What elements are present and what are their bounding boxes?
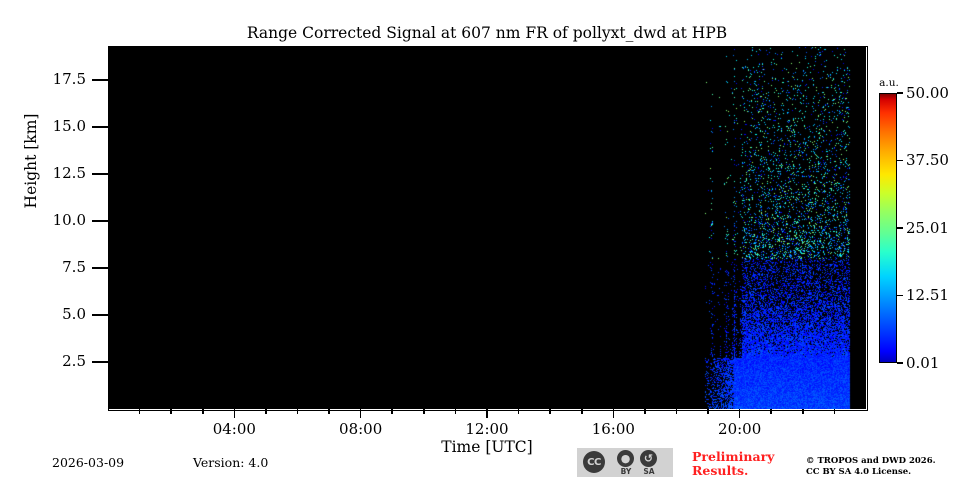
cc-by-label: BY [614,467,638,476]
cc-by-person-icon: ● [617,450,634,467]
x-tick-mark-minor [644,409,646,414]
x-tick-label: 20:00 [700,421,780,437]
heatmap-data-canvas [108,46,866,409]
x-tick-mark-minor [391,409,393,414]
copyright-line-1: © TROPOS and DWD 2026. [806,456,960,467]
colorbar-unit-label: a.u. [868,78,910,89]
quicklook-figure: Range Corrected Signal at 607 nm FR of p… [0,0,960,480]
x-tick-mark-minor [423,409,425,414]
y-tick-label: 7.5 [32,260,86,275]
x-tick-mark-minor [265,409,267,414]
colorbar-tick-mark [897,160,903,161]
y-tick-mark [92,314,108,316]
colorbar-tick-label: 0.01 [906,356,939,371]
y-tick-label: 12.5 [32,166,86,181]
x-tick-mark-minor [834,409,836,414]
y-tick-label: 10.0 [32,213,86,228]
colorbar-tick-label: 50.00 [906,86,949,101]
x-tick-mark-major [360,409,362,418]
x-tick-mark-minor [170,409,172,414]
x-tick-mark-major [739,409,741,418]
cc-sa-label: SA [637,467,661,476]
colorbar-tick-label: 25.01 [906,221,949,236]
x-tick-mark-minor [770,409,772,414]
y-axis-label: Height [km] [22,66,40,256]
y-tick-mark [92,361,108,363]
y-tick-mark [92,220,108,222]
preliminary-results-notice: Preliminary Results. [692,450,792,477]
x-tick-mark-major [613,409,615,418]
y-tick-mark [92,267,108,269]
x-tick-mark-minor [707,409,709,414]
footer-version: Version: 4.0 [193,455,268,470]
colorbar-tick-mark [897,362,903,363]
creative-commons-badge[interactable]: CC ● ↺ BY SA [577,448,673,477]
heatmap-plot-area[interactable] [108,46,866,409]
x-tick-mark-minor [455,409,457,414]
x-tick-mark-minor [139,409,141,414]
x-tick-mark-major [486,409,488,418]
preliminary-line-1: Preliminary [692,450,792,464]
colorbar-tick-label: 12.51 [906,288,949,303]
x-tick-mark-major [234,409,236,418]
x-tick-label: 08:00 [321,421,401,437]
colorbar-tick-mark [897,295,903,296]
page-title: Range Corrected Signal at 607 nm FR of p… [108,24,866,42]
y-tick-mark [92,173,108,175]
x-tick-mark-minor [202,409,204,414]
colorbar-tick-label: 37.50 [906,153,949,168]
x-tick-mark-minor [297,409,299,414]
copyright-line-2: CC BY SA 4.0 License. [806,467,960,478]
copyright-notice: © TROPOS and DWD 2026. CC BY SA 4.0 Lice… [806,456,960,477]
x-tick-mark-minor [328,409,330,414]
x-tick-mark-minor [581,409,583,414]
x-tick-label: 16:00 [573,421,653,437]
x-tick-mark-minor [518,409,520,414]
x-tick-label: 12:00 [447,421,527,437]
cc-sa-sharealike-icon: ↺ [640,450,657,467]
x-tick-mark-minor [676,409,678,414]
x-tick-label: 04:00 [194,421,274,437]
x-tick-mark-minor [549,409,551,414]
y-tick-label: 2.5 [32,354,86,369]
y-tick-label: 15.0 [32,119,86,134]
cc-icon: CC [583,451,605,473]
y-tick-label: 5.0 [32,307,86,322]
y-tick-mark [92,126,108,128]
y-tick-mark [92,79,108,81]
preliminary-line-2: Results. [692,464,792,478]
colorbar-tick-mark [897,227,903,228]
colorbar-gradient[interactable] [879,93,897,363]
y-tick-label: 17.5 [32,72,86,87]
colorbar-tick-mark [897,92,903,93]
x-tick-mark-minor [802,409,804,414]
footer-date: 2026-03-09 [52,455,124,470]
